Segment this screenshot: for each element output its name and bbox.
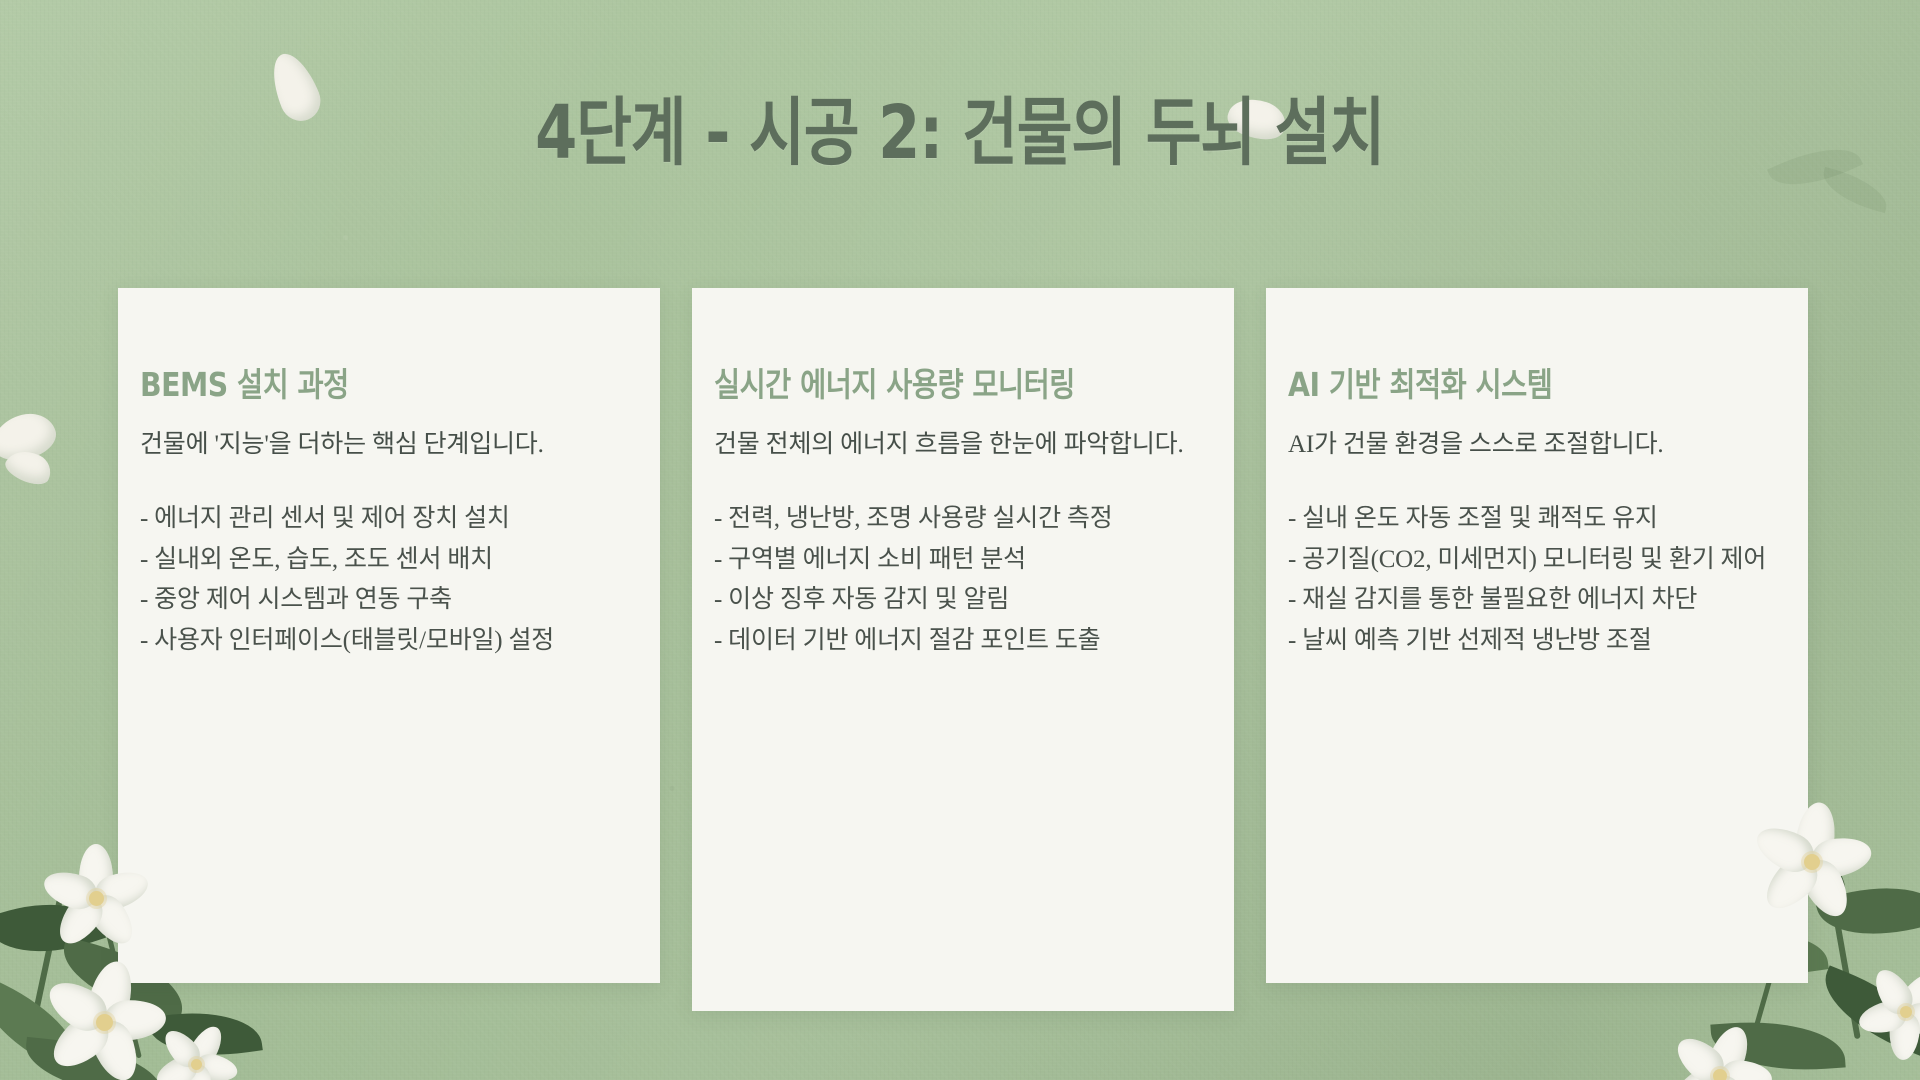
list-item: - 구역별 에너지 소비 패턴 분석 (714, 540, 1202, 581)
card-heading: 실시간 에너지 사용량 모니터링 (714, 358, 1134, 406)
card-realtime-energy-monitoring: 실시간 에너지 사용량 모니터링 건물 전체의 에너지 흐름을 한눈에 파악합니… (692, 288, 1234, 1011)
list-item: - 실내외 온도, 습도, 조도 센서 배치 (140, 540, 628, 581)
card-bullet-list: - 에너지 관리 센서 및 제어 장치 설치 - 실내외 온도, 습도, 조도 … (140, 499, 628, 661)
title-container: 4단계 - 시공 2: 건물의 두뇌 설치 (0, 44, 1920, 222)
list-item: - 에너지 관리 센서 및 제어 장치 설치 (140, 499, 628, 540)
list-item: - 날씨 예측 기반 선제적 냉난방 조절 (1288, 621, 1776, 662)
card-heading: AI 기반 최적화 시스템 (1288, 358, 1708, 406)
list-item: - 실내 온도 자동 조절 및 쾌적도 유지 (1288, 499, 1776, 540)
card-row: BEMS 설치 과정 건물에 '지능'을 더하는 핵심 단계입니다. - 에너지… (118, 288, 1808, 1011)
card-bullet-list: - 실내 온도 자동 조절 및 쾌적도 유지 - 공기질(CO2, 미세먼지) … (1288, 499, 1776, 661)
list-item: - 공기질(CO2, 미세먼지) 모니터링 및 환기 제어 (1288, 540, 1776, 581)
list-item: - 중앙 제어 시스템과 연동 구축 (140, 580, 628, 621)
card-lead-text: AI가 건물 환경을 스스로 조절합니다. (1288, 426, 1776, 463)
presentation-slide: 4단계 - 시공 2: 건물의 두뇌 설치 BEMS 설치 과정 건물에 '지능… (0, 0, 1920, 1080)
list-item: - 전력, 냉난방, 조명 사용량 실시간 측정 (714, 499, 1202, 540)
list-item: - 이상 징후 자동 감지 및 알림 (714, 580, 1202, 621)
card-lead-text: 건물 전체의 에너지 흐름을 한눈에 파악합니다. (714, 426, 1202, 463)
card-bullet-list: - 전력, 냉난방, 조명 사용량 실시간 측정 - 구역별 에너지 소비 패턴… (714, 499, 1202, 661)
list-item: - 재실 감지를 통한 불필요한 에너지 차단 (1288, 580, 1776, 621)
card-bems-installation: BEMS 설치 과정 건물에 '지능'을 더하는 핵심 단계입니다. - 에너지… (118, 288, 660, 983)
list-item: - 데이터 기반 에너지 절감 포인트 도출 (714, 621, 1202, 662)
list-item: - 사용자 인터페이스(태블릿/모바일) 설정 (140, 621, 628, 662)
card-ai-optimization-system: AI 기반 최적화 시스템 AI가 건물 환경을 스스로 조절합니다. - 실내… (1266, 288, 1808, 983)
card-lead-text: 건물에 '지능'을 더하는 핵심 단계입니다. (140, 426, 628, 463)
card-heading: BEMS 설치 과정 (140, 358, 560, 406)
page-title: 4단계 - 시공 2: 건물의 두뇌 설치 (536, 94, 1385, 172)
